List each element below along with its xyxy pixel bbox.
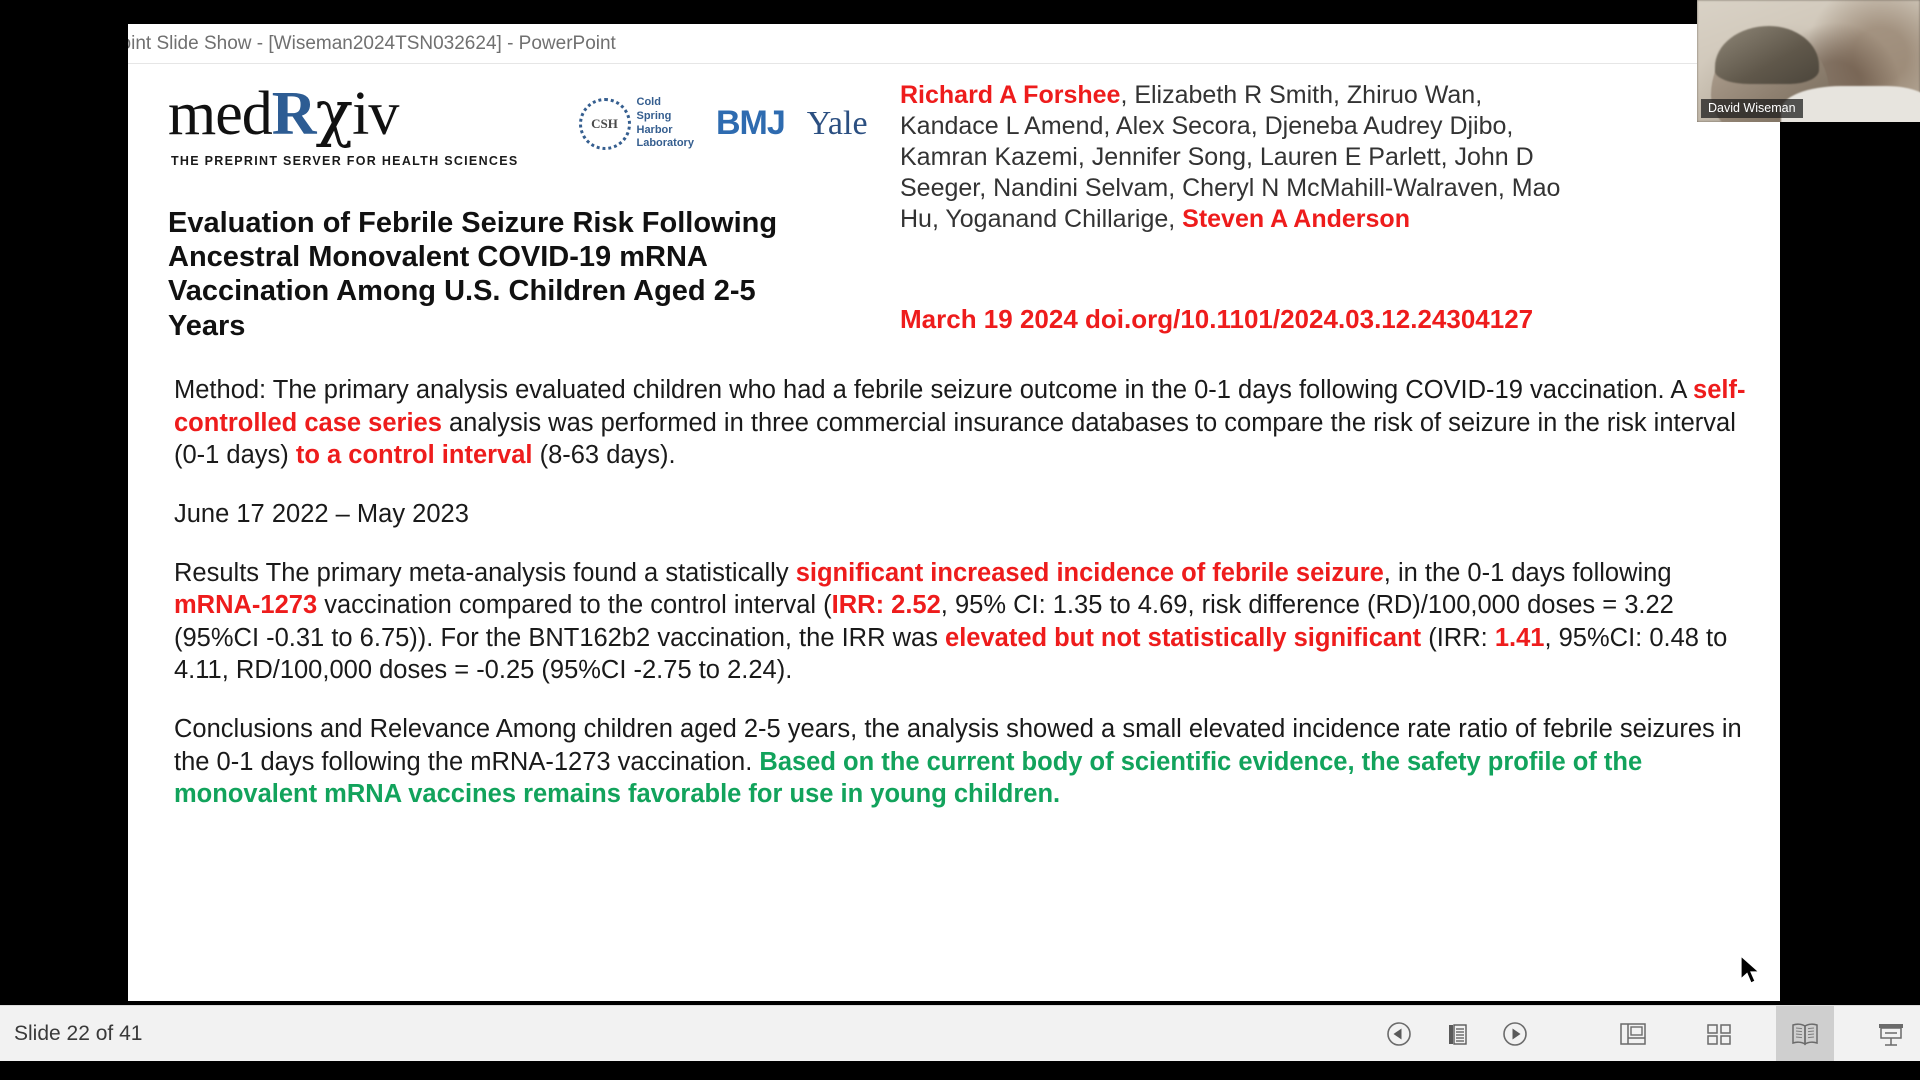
results-text-3: vaccination compared to the control inte… [317, 591, 832, 619]
slideshow-button[interactable] [1862, 1006, 1920, 1062]
results-highlight-2: mRNA-1273 [174, 591, 317, 619]
publication-doi-line: March 19 2024 doi.org/10.1101/2024.03.12… [900, 304, 1600, 335]
slide-canvas[interactable]: medRχiv THE PREPRINT SERVER FOR HEALTH S… [128, 64, 1780, 1001]
results-highlight-4: elevated but not statistically significa… [945, 624, 1421, 652]
previous-slide-button[interactable] [1370, 1006, 1428, 1062]
publisher-logo-row: medRχiv THE PREPRINT SERVER FOR HEALTH S… [168, 82, 868, 168]
notes-list-icon [1442, 1019, 1472, 1049]
window-titlebar: PowerPoint Slide Show - [Wiseman2024TSN0… [0, 24, 1703, 64]
slideshow-letterbox-left [0, 0, 128, 1080]
results-text-5: (IRR: [1421, 624, 1495, 652]
chevron-left-circle-icon [1384, 1019, 1414, 1049]
csh-line-3: Harbor [637, 124, 694, 138]
results-text-2: , in the 0-1 days following [1384, 559, 1672, 587]
medrxiv-wordmark-med: med [168, 80, 272, 148]
medrxiv-wordmark-chi: χ [316, 76, 353, 149]
conclusions-paragraph: Conclusions and Relevance Among children… [174, 713, 1749, 811]
method-paragraph: Method: The primary analysis evaluated c… [174, 374, 1749, 472]
paper-title: Evaluation of Febrile Seizure Risk Follo… [168, 206, 808, 343]
medrxiv-wordmark-iv: iv [352, 80, 398, 148]
all-slides-button[interactable] [1428, 1006, 1486, 1062]
grid-view-icon [1703, 1019, 1735, 1049]
csh-line-1: Cold [637, 96, 694, 110]
slide-body: Method: The primary analysis evaluated c… [174, 374, 1749, 811]
author-first-highlighted: Richard A Forshee [900, 81, 1120, 109]
mouse-cursor [1740, 955, 1762, 987]
method-text-3: (8-63 days). [533, 441, 676, 469]
screen-letterbox-top [0, 0, 1920, 24]
author-list: Richard A Forshee, Elizabeth R Smith, Zh… [900, 80, 1580, 235]
results-text-1: Results The primary meta-analysis found … [174, 559, 796, 587]
medrxiv-logo: medRχiv THE PREPRINT SERVER FOR HEALTH S… [168, 82, 519, 168]
presentation-screen-icon [1875, 1019, 1907, 1049]
results-highlight-3: IRR: 2.52 [832, 591, 941, 619]
window-title: PowerPoint Slide Show - [Wiseman2024TSN0… [54, 33, 616, 55]
csh-ring-icon: CSH [579, 98, 631, 150]
participant-name-label: David Wiseman [1701, 99, 1803, 118]
slide-sorter-button[interactable] [1690, 1006, 1748, 1062]
slideshow-toolbar [1370, 1006, 1920, 1062]
next-slide-button[interactable] [1486, 1006, 1544, 1062]
csh-line-2: Spring [637, 110, 694, 124]
author-last-highlighted: Steven A Anderson [1182, 205, 1410, 233]
cold-spring-harbor-logo: CSH Cold Spring Harbor Laboratory [579, 96, 694, 151]
video-participant-tile[interactable]: David Wiseman [1697, 0, 1920, 122]
method-text-1: Method: The primary analysis evaluated c… [174, 376, 1693, 404]
csh-line-4: Laboratory [637, 137, 694, 151]
reading-view-icon [1788, 1019, 1822, 1049]
medrxiv-wordmark-r: R [272, 80, 316, 148]
results-paragraph: Results The primary meta-analysis found … [174, 557, 1749, 688]
screen-letterbox-bottom [0, 1061, 1920, 1080]
chevron-right-circle-icon [1500, 1019, 1530, 1049]
reading-view-button[interactable] [1776, 1006, 1834, 1062]
results-highlight-5: 1.41 [1495, 624, 1545, 652]
partner-logos: CSH Cold Spring Harbor Laboratory BMJ Ya… [579, 96, 868, 151]
method-highlight-2: to a control interval [296, 441, 533, 469]
yale-logo: Yale [807, 105, 868, 143]
medrxiv-tagline: THE PREPRINT SERVER FOR HEALTH SCIENCES [171, 155, 519, 168]
bmj-logo: BMJ [716, 104, 785, 143]
medrxiv-wordmark: medRχiv [168, 82, 519, 145]
normal-view-button[interactable] [1604, 1006, 1662, 1062]
slideshow-statusbar: Slide 22 of 41 [0, 1005, 1920, 1061]
study-date-range: June 17 2022 – May 2023 [174, 498, 1749, 531]
slide-counter: Slide 22 of 41 [14, 1022, 142, 1046]
slideshow-letterbox-right [1780, 0, 1920, 1080]
normal-view-icon [1617, 1019, 1649, 1049]
powerpoint-slideshow-window: PowerPoint Slide Show - [Wiseman2024TSN0… [0, 0, 1920, 1080]
csh-abbreviation: CSH [591, 116, 618, 132]
results-highlight-1: significant increased incidence of febri… [796, 559, 1384, 587]
csh-label: Cold Spring Harbor Laboratory [637, 96, 694, 151]
